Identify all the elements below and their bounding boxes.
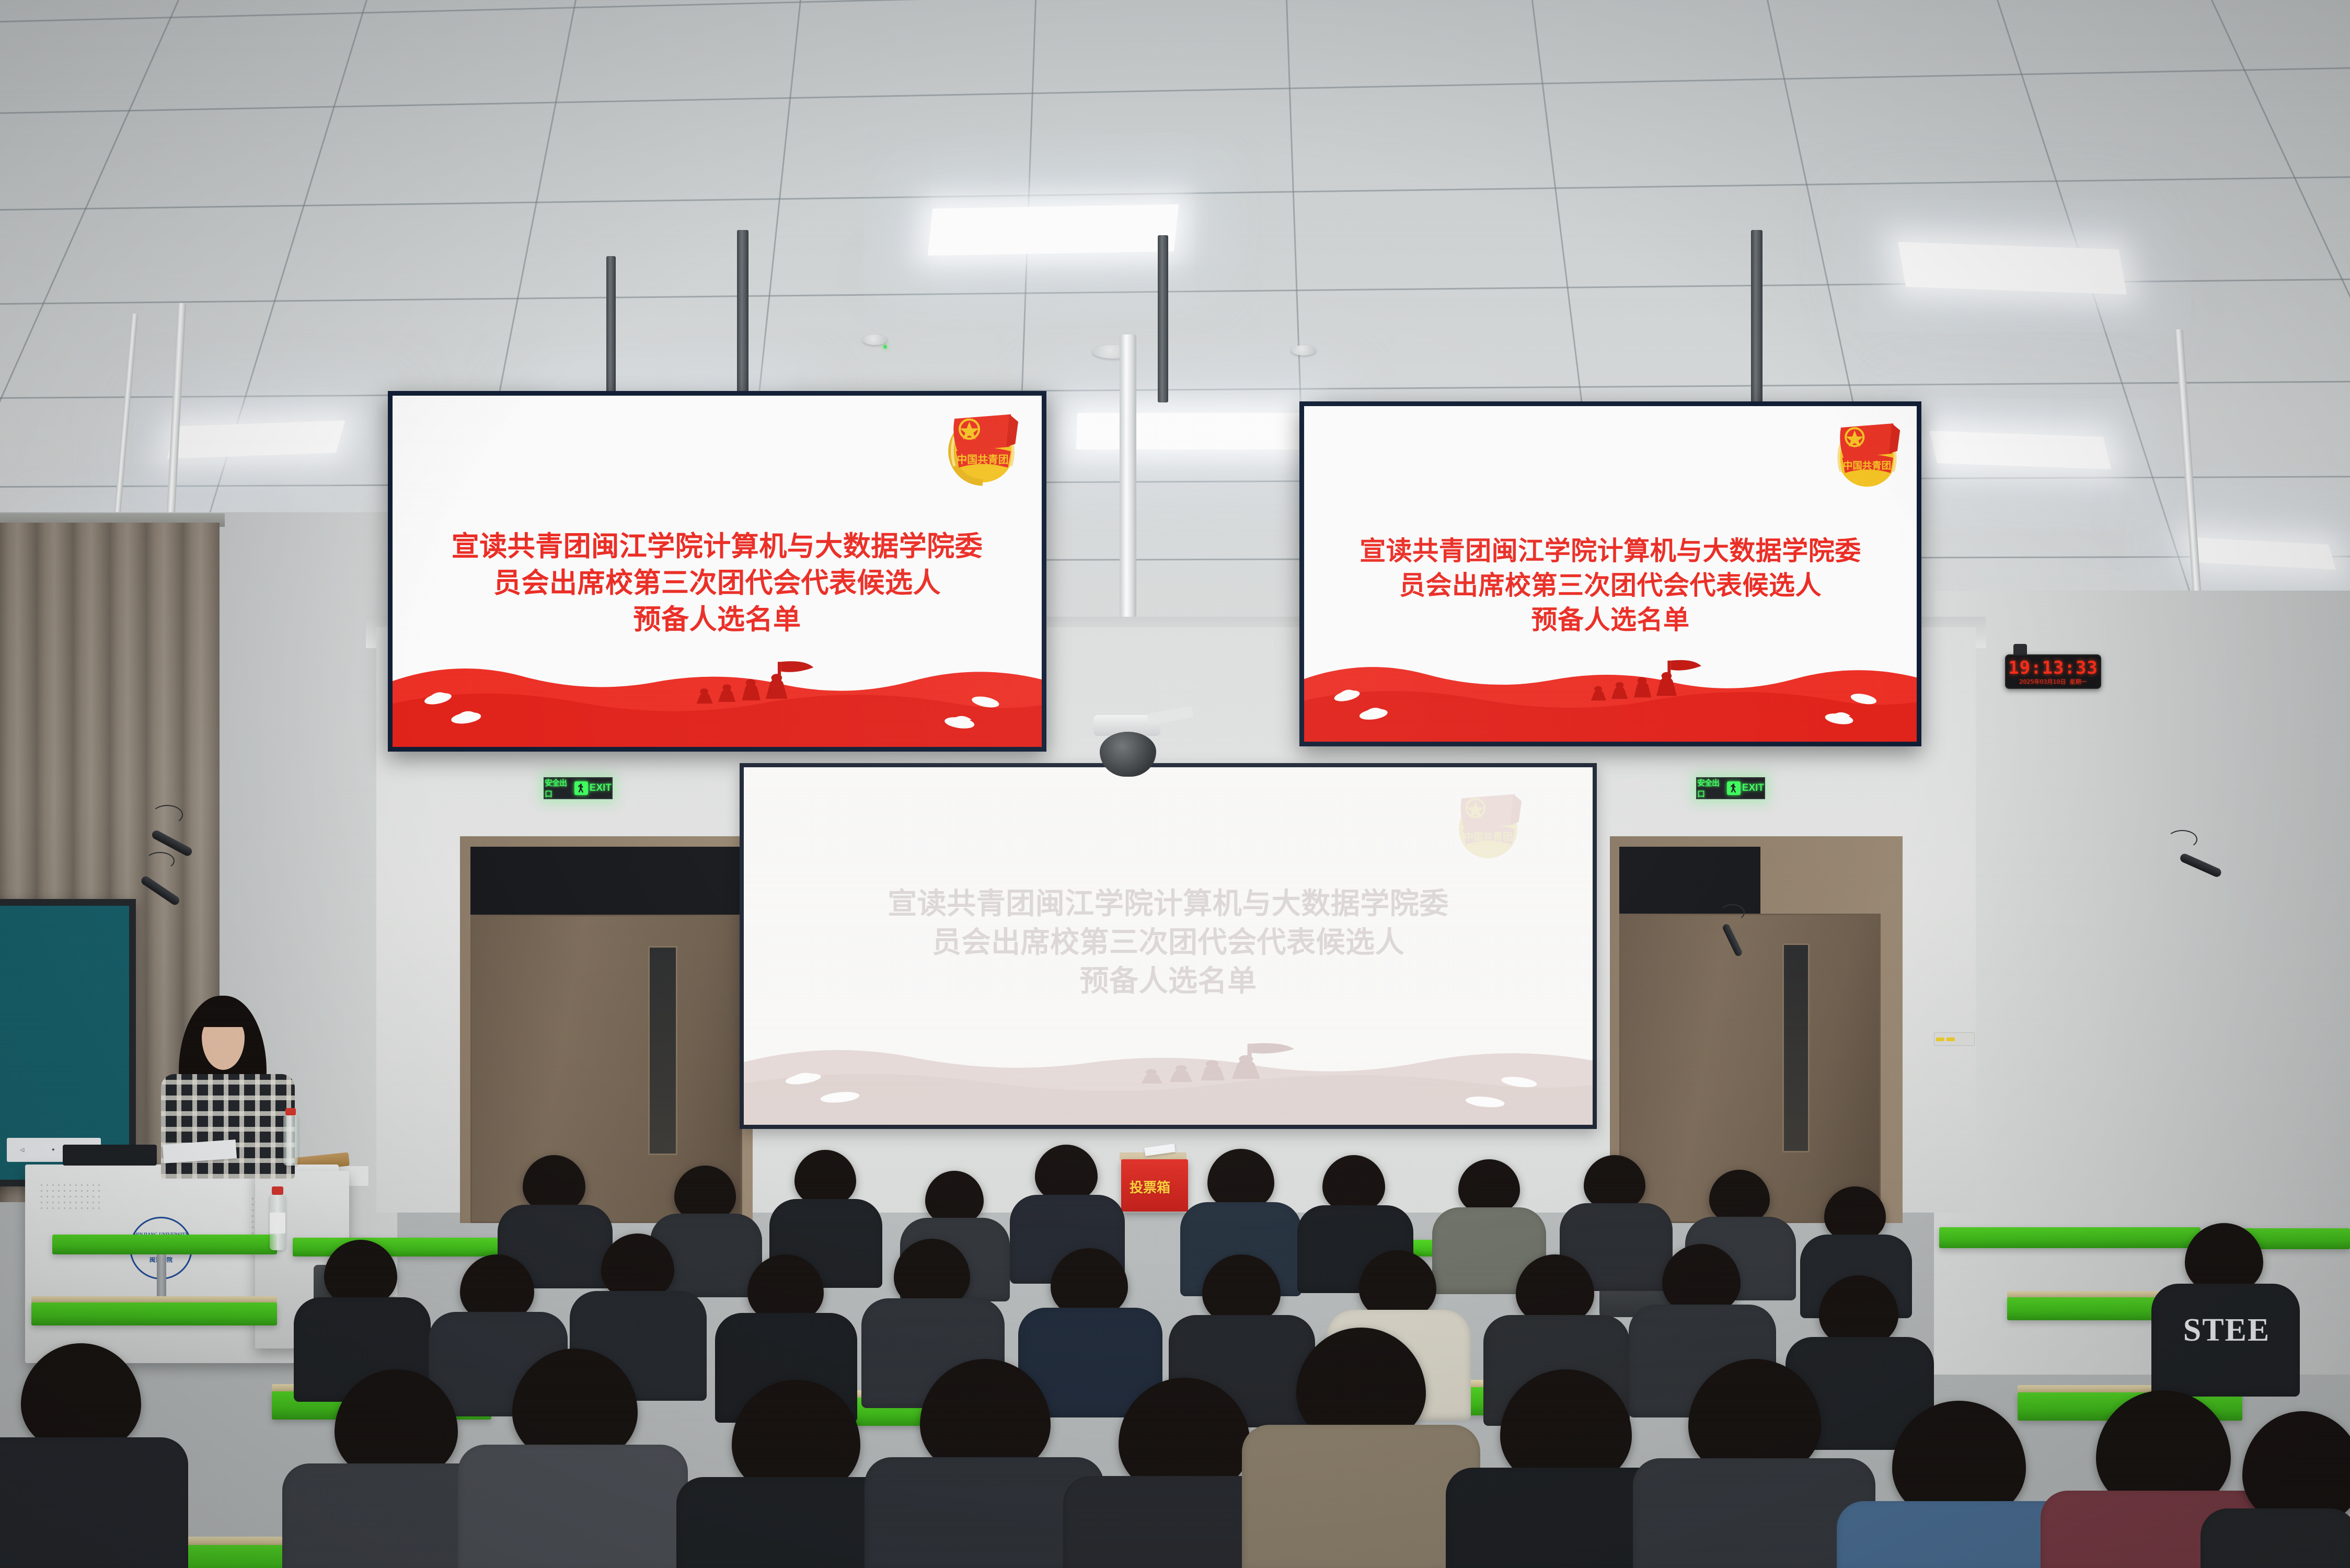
tv-left-panel: 中国共青团 宣读共青团闽江学院计算机与大数据学院委 员会出席校第三次团代会代表候… — [393, 396, 1042, 747]
smoke-detector-icon — [1291, 345, 1316, 355]
interactive-teaching-display[interactable]: ◁ ✦ ＋ — [0, 899, 136, 1186]
slide-title-line-2: 员会出席校第三次团代会代表候选人 — [1341, 568, 1880, 603]
dome-camera — [1100, 732, 1156, 777]
slide-title-line-1: 宣读共青团闽江学院计算机与大数据学院委 — [1341, 534, 1880, 568]
student-desk — [31, 1302, 277, 1325]
projector-screen-surface: 中国共青团 宣读共青团闽江学院计算机与大数据学院委 员会出席校第三次团代会代表候… — [744, 767, 1593, 1125]
right-wall — [1934, 591, 2350, 1375]
ceiling-light-panel — [1929, 431, 2111, 469]
smoke-detector-icon — [862, 335, 888, 345]
slide-title-line-3: 预备人选名单 — [794, 963, 1541, 1001]
tv-right: 中国共青团 宣读共青团闽江学院计算机与大数据学院委 员会出席校第三次团代会代表候… — [1299, 401, 1921, 746]
display-toolbar-icon[interactable]: ✦ — [51, 1147, 55, 1153]
mic-cable — [2167, 830, 2197, 849]
ceiling-light-panel — [928, 204, 1179, 256]
exit-sign-label-cn: 安全出口 — [545, 777, 573, 799]
audience-torso — [458, 1445, 688, 1568]
left-door-transom — [470, 847, 742, 915]
bottle-cap-icon — [272, 1186, 283, 1195]
bottle-label — [270, 1213, 285, 1233]
jacket-text-span: STEE — [2183, 1312, 2271, 1348]
podium-console[interactable] — [63, 1145, 157, 1166]
podium-vent-grille — [39, 1182, 101, 1210]
clock-date-text: 2025年03月10日 — [2020, 678, 2066, 685]
slide-title-line-3: 预备人选名单 — [1341, 603, 1880, 637]
running-man-icon — [1727, 781, 1740, 795]
clock-date: 2025年03月10日 星期一 — [2020, 679, 2087, 685]
communist-youth-league-emblem: 中国共青团 — [938, 405, 1027, 489]
emblem-banner-text: 中国共青团 — [957, 454, 1008, 466]
speaker-jacket — [161, 1074, 295, 1179]
clock-time: 19:13:33 — [2008, 659, 2098, 677]
left-door-glass — [648, 946, 677, 1155]
water-bottle — [283, 1115, 298, 1166]
wall-switch-plate[interactable] — [1934, 1032, 1975, 1046]
communist-youth-league-emblem: 中国共青团 — [1826, 414, 1908, 493]
tv-support-rod — [1158, 235, 1168, 402]
slide-title: 宣读共青团闽江学院计算机与大数据学院委 员会出席校第三次团代会代表候选人 预备人… — [1341, 534, 1880, 637]
audience-torso — [2201, 1508, 2350, 1568]
communist-youth-league-emblem: 中国共青团 — [1446, 785, 1530, 864]
exit-sign-label-cn: 安全出口 — [1697, 777, 1725, 799]
slide-red-wave-graphic — [744, 1018, 1593, 1125]
bottle-cap-icon — [285, 1108, 296, 1115]
student-desk — [293, 1238, 502, 1256]
exit-sign-label-en: EXIT — [1742, 782, 1764, 794]
tv-right-panel: 中国共青团 宣读共青团闽江学院计算机与大数据学院委 员会出席校第三次团代会代表候… — [1304, 406, 1917, 742]
slide-title-line-2: 员会出席校第三次团代会代表候选人 — [794, 924, 1541, 963]
ballot-box: 投票箱 — [1121, 1159, 1188, 1212]
light-switch-icon[interactable] — [1946, 1037, 1955, 1041]
exit-sign-left: 安全出口 EXIT — [544, 777, 613, 799]
exit-sign-right: 安全出口 EXIT — [1696, 777, 1765, 799]
detector-led-icon — [883, 345, 887, 349]
mic-cable — [145, 852, 175, 870]
slide-title-line-1: 宣读共青团闽江学院计算机与大数据学院委 — [794, 885, 1541, 924]
jacket-back-text: STEE — [2169, 1312, 2284, 1349]
running-man-icon — [574, 781, 587, 795]
lecture-hall-photo: 安全出口 EXIT 安全出口 EXIT 19:13:33 2025年03月10日… — [0, 0, 2350, 1568]
ceiling-light-panel — [1898, 242, 2127, 295]
slide-title: 宣读共青团闽江学院计算机与大数据学院委 员会出席校第三次团代会代表候选人 预备人… — [794, 885, 1541, 1001]
emblem-banner-text: 中国共青团 — [1843, 460, 1891, 471]
ceiling-light-panel — [1076, 413, 1312, 449]
ceiling-light-panel — [2191, 537, 2336, 570]
exit-sign-label-en: EXIT — [590, 782, 612, 794]
digital-clock: 19:13:33 2025年03月10日 星期一 — [2005, 654, 2101, 689]
projector-screen: 中国共青团 宣读共青团闽江学院计算机与大数据学院委 员会出席校第三次团代会代表候… — [740, 763, 1597, 1129]
mic-cable — [1720, 904, 1745, 921]
student-desk — [1939, 1227, 2201, 1248]
slide-title-line-3: 预备人选名单 — [432, 602, 1003, 639]
student-desk — [52, 1235, 277, 1254]
light-switch-icon[interactable] — [1936, 1037, 1944, 1041]
slide-title-line-1: 宣读共青团闽江学院计算机与大数据学院委 — [432, 529, 1003, 566]
slide-red-wave-graphic — [393, 635, 1042, 747]
slide-title: 宣读共青团闽江学院计算机与大数据学院委 员会出席校第三次团代会代表候选人 预备人… — [432, 529, 1003, 639]
slide-red-wave-graphic — [1304, 635, 1917, 742]
mic-cable — [152, 805, 183, 825]
audience-torso — [1242, 1425, 1480, 1568]
tv-left: 中国共青团 宣读共青团闽江学院计算机与大数据学院委 员会出席校第三次团代会代表候… — [388, 391, 1046, 752]
display-toolbar-icon[interactable]: ◁ — [20, 1147, 25, 1153]
clock-weekday-text: 星期一 — [2070, 678, 2087, 685]
tv-support-rod — [606, 256, 616, 408]
slide-title-line-2: 员会出席校第三次团代会代表候选人 — [432, 566, 1003, 602]
right-door-glass — [1782, 943, 1810, 1152]
svg-text:中国共青团: 中国共青团 — [1464, 831, 1512, 843]
right-door-transom — [1619, 847, 1760, 915]
audience-torso — [0, 1437, 188, 1568]
tv-support-rod — [737, 230, 748, 402]
desk-leg — [157, 1254, 166, 1296]
ballot-box-label: 投票箱 — [1130, 1177, 1170, 1196]
tv-support-rod — [1751, 230, 1762, 402]
ceiling-light-panel — [167, 420, 345, 458]
